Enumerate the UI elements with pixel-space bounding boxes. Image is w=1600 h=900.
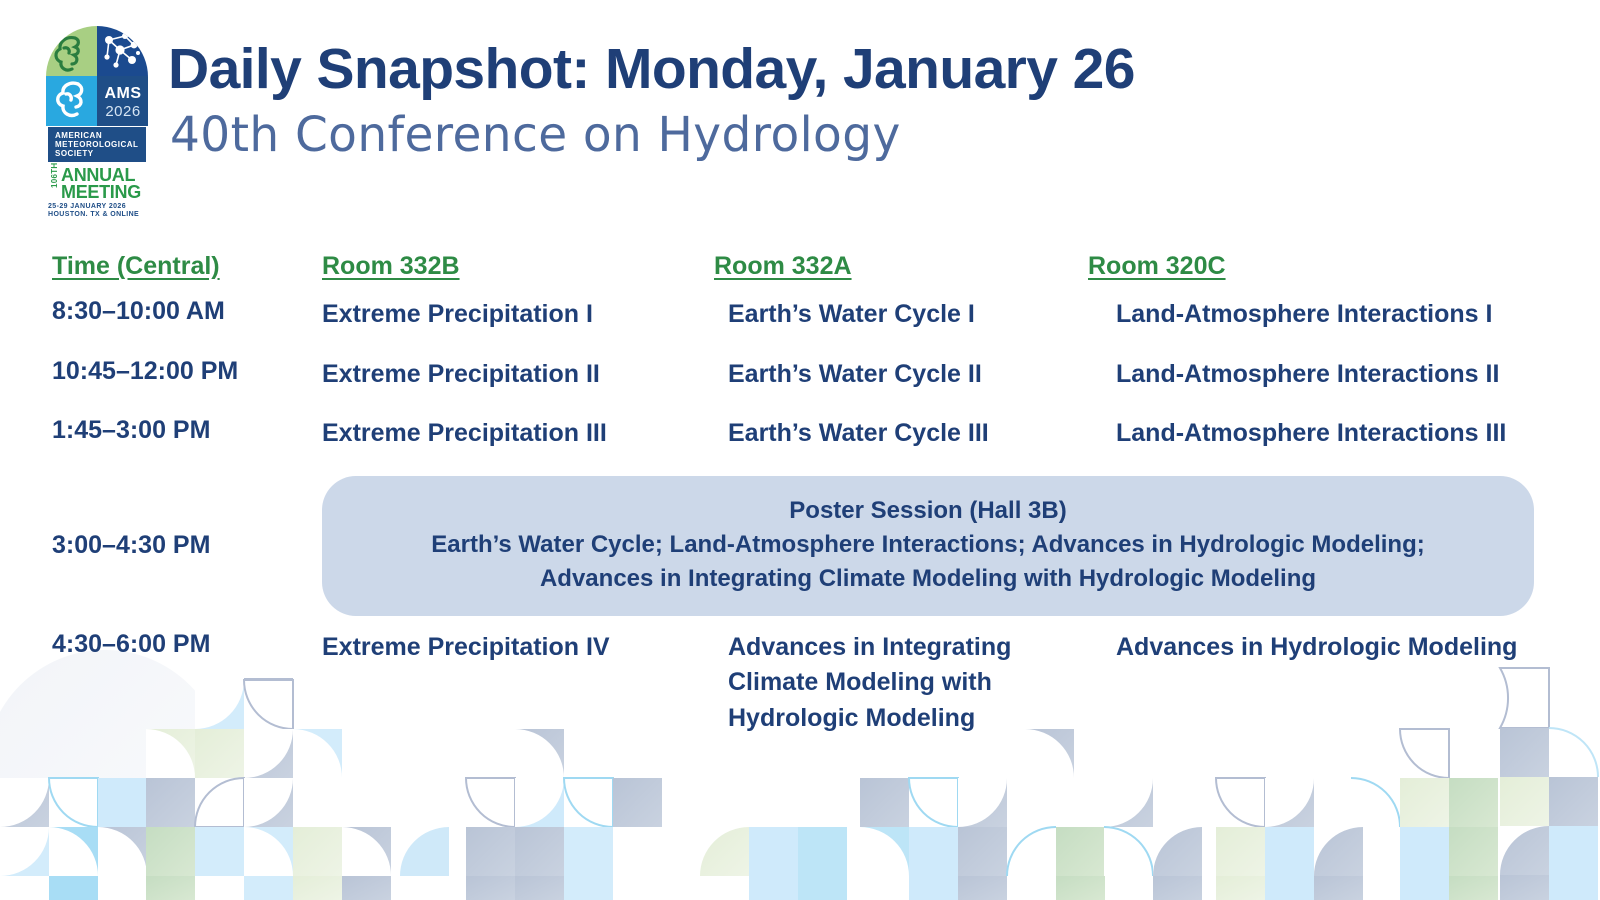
page-title: Daily Snapshot: Monday, January 26: [168, 40, 1135, 100]
session-room-320c: Land-Atmosphere Interactions III: [1116, 416, 1590, 452]
poster-session-topics-line-1: Earth’s Water Cycle; Land-Atmosphere Int…: [348, 528, 1508, 562]
column-header-room-332a: Room 332A: [714, 252, 1088, 281]
poster-session-box: Poster Session (Hall 3B) Earth’s Water C…: [322, 476, 1534, 616]
session-room-320c: Land-Atmosphere Interactions I: [1116, 297, 1590, 333]
ams-2026-logo: AMS 2026 AMERICAN METEOROLOGICAL SOCIETY…: [46, 26, 148, 216]
session-room-332a: Advances in Integrating Climate Modeling…: [728, 630, 1116, 737]
svg-text:MEETING: MEETING: [61, 182, 141, 202]
svg-text:AMS: AMS: [104, 85, 141, 102]
session-room-332b: Extreme Precipitation IV: [322, 630, 728, 666]
session-time: 10:45–12:00 PM: [52, 357, 322, 386]
svg-text:25-29 JANUARY 2026: 25-29 JANUARY 2026: [48, 203, 126, 210]
session-room-320c: Land-Atmosphere Interactions II: [1116, 357, 1590, 393]
svg-text:2026: 2026: [105, 103, 140, 120]
svg-text:SOCIETY: SOCIETY: [55, 149, 94, 158]
table-row: 8:30–10:00 AM Extreme Precipitation I Ea…: [52, 297, 1552, 333]
table-row: 10:45–12:00 PM Extreme Precipitation II …: [52, 357, 1552, 393]
session-room-320c: Advances in Hydrologic Modeling: [1116, 630, 1590, 666]
column-header-room-332b: Room 332B: [322, 252, 714, 281]
header: Daily Snapshot: Monday, January 26 40th …: [168, 40, 1135, 162]
session-time: 1:45–3:00 PM: [52, 416, 322, 445]
session-time: 4:30–6:00 PM: [52, 630, 322, 659]
session-time: 8:30–10:00 AM: [52, 297, 322, 326]
schedule-table: Time (Central) Room 332B Room 332A Room …: [52, 252, 1552, 736]
poster-session-topics-line-2: Advances in Integrating Climate Modeling…: [348, 562, 1508, 596]
column-header-room-320c: Room 320C: [1088, 252, 1548, 281]
session-room-332a: Earth’s Water Cycle II: [728, 357, 1116, 393]
page-subtitle: 40th Conference on Hydrology: [170, 108, 1135, 163]
schedule-header-row: Time (Central) Room 332B Room 332A Room …: [52, 252, 1552, 281]
poster-session-time: 3:00–4:30 PM: [52, 531, 322, 560]
poster-session-title: Poster Session (Hall 3B): [348, 494, 1508, 528]
session-room-332b: Extreme Precipitation III: [322, 416, 728, 452]
table-row: 1:45–3:00 PM Extreme Precipitation III E…: [52, 416, 1552, 452]
daily-snapshot-page: AMS 2026 AMERICAN METEOROLOGICAL SOCIETY…: [0, 0, 1600, 900]
svg-text:106TH: 106TH: [50, 162, 59, 188]
session-room-332b: Extreme Precipitation I: [322, 297, 728, 333]
table-row: 4:30–6:00 PM Extreme Precipitation IV Ad…: [52, 630, 1552, 737]
svg-text:METEOROLOGICAL: METEOROLOGICAL: [55, 140, 138, 149]
svg-text:HOUSTON, TX & ONLINE: HOUSTON, TX & ONLINE: [48, 211, 139, 216]
session-room-332a: Earth’s Water Cycle I: [728, 297, 1116, 333]
column-header-time: Time (Central): [52, 252, 322, 281]
poster-session-row: 3:00–4:30 PM Poster Session (Hall 3B) Ea…: [52, 476, 1552, 616]
svg-text:AMERICAN: AMERICAN: [55, 131, 102, 140]
session-room-332b: Extreme Precipitation II: [322, 357, 728, 393]
session-room-332a: Earth’s Water Cycle III: [728, 416, 1116, 452]
